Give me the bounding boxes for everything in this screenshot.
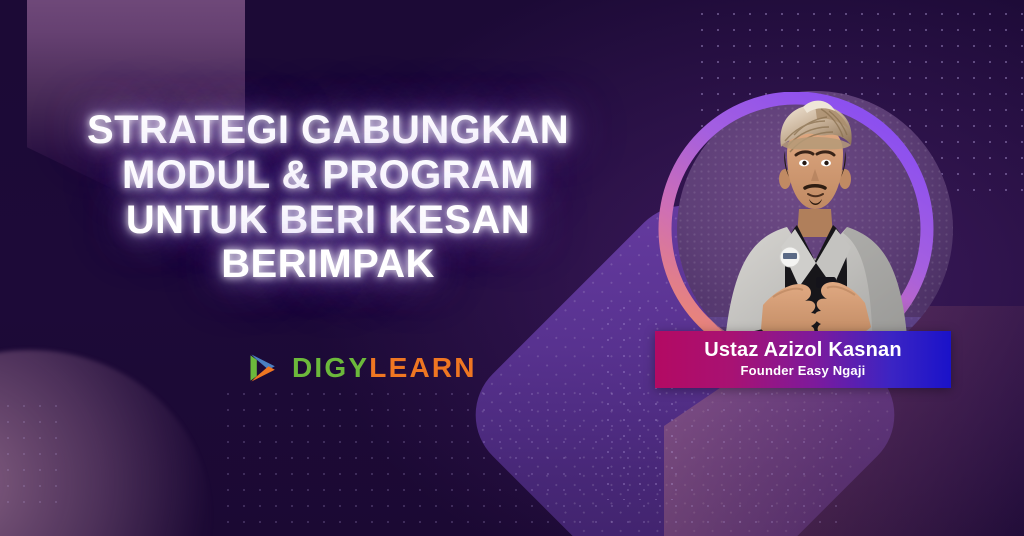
portrait-photo	[677, 91, 953, 367]
logo-word-digy: DIGY	[292, 352, 369, 383]
headline-line-2: MODUL & PROGRAM	[28, 153, 628, 198]
dot-grid-bottom-left	[0, 398, 70, 508]
logo-wordmark: DIGYLEARN	[292, 354, 477, 382]
headline-line-4: BERIMPAK	[28, 242, 628, 287]
headline-line-1: STRATEGI GABUNGKAN	[28, 108, 628, 153]
speaker-name: Ustaz Azizol Kasnan	[704, 340, 902, 361]
dot-grid-bottom	[220, 386, 840, 536]
headline-line-3: UNTUK BERI KESAN	[28, 198, 628, 243]
play-button-icon	[246, 350, 282, 386]
brand-logo: DIGYLEARN	[246, 350, 477, 386]
slide-canvas: STRATEGI GABUNGKAN MODUL & PROGRAM UNTUK…	[0, 0, 1024, 536]
speaker-name-banner: Ustaz Azizol Kasnan Founder Easy Ngaji	[655, 331, 951, 388]
speaker-role: Founder Easy Ngaji	[741, 364, 866, 378]
headline: STRATEGI GABUNGKAN MODUL & PROGRAM UNTUK…	[28, 108, 628, 287]
logo-word-learn: LEARN	[369, 352, 476, 383]
speaker-figure-icon	[677, 91, 953, 367]
